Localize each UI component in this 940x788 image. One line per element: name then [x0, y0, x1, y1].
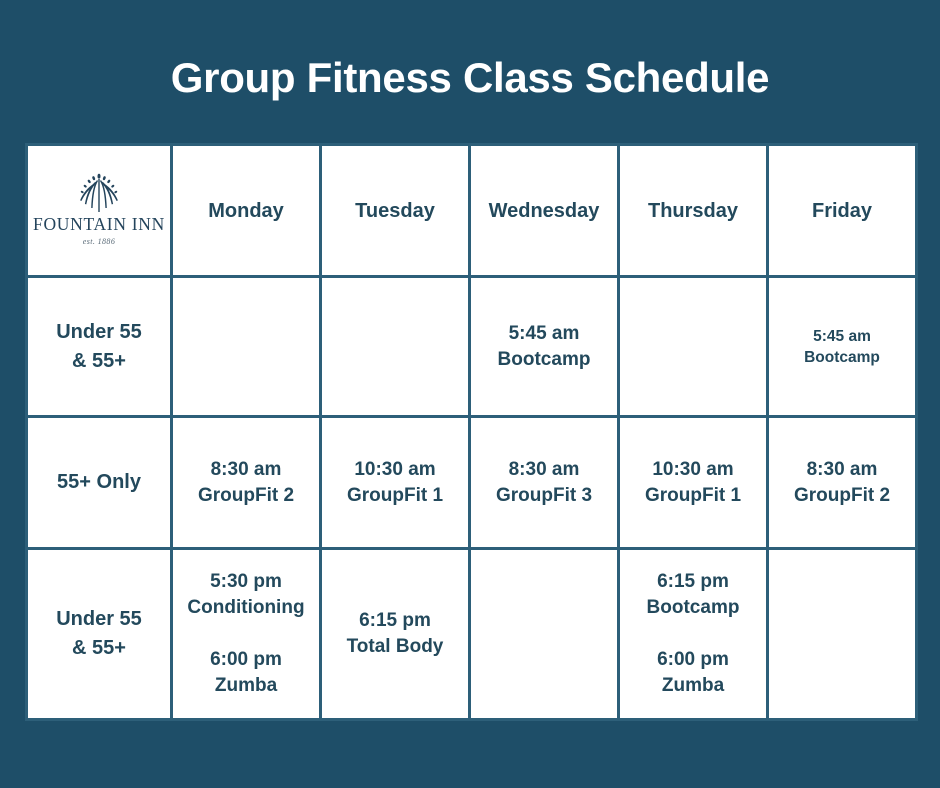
- class-entry-list: 8:30 amGroupFit 2: [177, 457, 315, 509]
- schedule-cell: 6:15 pmBootcamp6:00 pmZumba: [619, 549, 768, 720]
- group-label-line2: & 55+: [32, 634, 166, 663]
- class-time: 10:30 am: [645, 457, 741, 483]
- group-label-cell: Under 55& 55+: [27, 549, 172, 720]
- class-time: 5:30 pm: [187, 569, 304, 595]
- group-label: 55+ Only: [32, 468, 166, 497]
- brand-logo: FOUNTAIN INNest. 1886: [32, 148, 166, 273]
- group-label: Under 55& 55+: [32, 605, 166, 663]
- class-entry-list: 8:30 amGroupFit 2: [773, 457, 911, 509]
- schedule-cell-empty: [321, 277, 470, 417]
- class-time: 8:30 am: [794, 457, 890, 483]
- class-name: GroupFit 1: [347, 483, 443, 509]
- class-name: GroupFit 2: [198, 483, 294, 509]
- group-label-line1: 55+ Only: [32, 468, 166, 497]
- class-entry: 5:45 amBootcamp: [804, 326, 880, 368]
- class-entry: 10:30 amGroupFit 1: [645, 457, 741, 509]
- class-entry: 6:00 pmZumba: [657, 647, 729, 699]
- day-header-tuesday: Tuesday: [321, 145, 470, 277]
- class-time: 6:15 pm: [647, 569, 740, 595]
- page-title: Group Fitness Class Schedule: [0, 52, 940, 104]
- class-entry-list: 6:15 pmTotal Body: [326, 608, 464, 660]
- schedule-cell: 10:30 amGroupFit 1: [321, 417, 470, 549]
- day-header-wednesday: Wednesday: [470, 145, 619, 277]
- class-time: 10:30 am: [347, 457, 443, 483]
- day-header-label: Friday: [773, 199, 911, 223]
- schedule-cell: 8:30 amGroupFit 3: [470, 417, 619, 549]
- class-name: GroupFit 1: [645, 483, 741, 509]
- schedule-cell-empty: [172, 277, 321, 417]
- class-time: 5:45 am: [804, 326, 880, 347]
- class-time: 5:45 am: [498, 321, 591, 347]
- class-name: Bootcamp: [647, 595, 740, 621]
- table-header-row: FOUNTAIN INNest. 1886MondayTuesdayWednes…: [27, 145, 917, 277]
- day-header-friday: Friday: [768, 145, 917, 277]
- fountain-icon: [76, 173, 122, 214]
- class-name: Total Body: [347, 634, 444, 660]
- day-header-label: Monday: [177, 199, 315, 223]
- schedule-cell: 10:30 amGroupFit 1: [619, 417, 768, 549]
- schedule-cell: 6:15 pmTotal Body: [321, 549, 470, 720]
- class-entry: 6:00 pmZumba: [210, 647, 282, 699]
- schedule-cell: 8:30 amGroupFit 2: [768, 417, 917, 549]
- day-header-label: Thursday: [624, 199, 762, 223]
- class-name: Bootcamp: [498, 347, 591, 373]
- schedule-cell-empty: [768, 549, 917, 720]
- day-header-thursday: Thursday: [619, 145, 768, 277]
- class-name: Conditioning: [187, 595, 304, 621]
- class-entry: 6:15 pmBootcamp: [647, 569, 740, 621]
- class-name: GroupFit 3: [496, 483, 592, 509]
- class-entry-list: 8:30 amGroupFit 3: [475, 457, 613, 509]
- day-header-label: Tuesday: [326, 199, 464, 223]
- class-time: 6:15 pm: [347, 608, 444, 634]
- class-name: Bootcamp: [804, 347, 880, 368]
- logo-established: est. 1886: [83, 236, 116, 248]
- class-entry-list: 6:15 pmBootcamp6:00 pmZumba: [624, 569, 762, 699]
- group-label-cell: Under 55& 55+: [27, 277, 172, 417]
- schedule-cell: 5:30 pmConditioning6:00 pmZumba: [172, 549, 321, 720]
- class-entry: 10:30 amGroupFit 1: [347, 457, 443, 509]
- day-header-monday: Monday: [172, 145, 321, 277]
- class-entry-list: 5:45 amBootcamp: [773, 326, 911, 368]
- class-name: GroupFit 2: [794, 483, 890, 509]
- schedule-cell-empty: [619, 277, 768, 417]
- schedule-cell-empty: [470, 549, 619, 720]
- class-name: Zumba: [657, 673, 729, 699]
- class-entry: 5:30 pmConditioning: [187, 569, 304, 621]
- group-label-cell: 55+ Only: [27, 417, 172, 549]
- class-time: 6:00 pm: [657, 647, 729, 673]
- group-label-line2: & 55+: [32, 347, 166, 376]
- logo-cell: FOUNTAIN INNest. 1886: [27, 145, 172, 277]
- group-label-line1: Under 55: [32, 605, 166, 634]
- class-entry: 6:15 pmTotal Body: [347, 608, 444, 660]
- class-entry: 5:45 amBootcamp: [498, 321, 591, 373]
- class-time: 8:30 am: [496, 457, 592, 483]
- class-time: 6:00 pm: [210, 647, 282, 673]
- logo-wordmark: FOUNTAIN INN: [33, 214, 165, 234]
- schedule-page: Group Fitness Class Schedule FOUNTAIN IN…: [0, 0, 940, 788]
- class-name: Zumba: [210, 673, 282, 699]
- class-entry: 8:30 amGroupFit 2: [198, 457, 294, 509]
- schedule-cell: 8:30 amGroupFit 2: [172, 417, 321, 549]
- class-time: 8:30 am: [198, 457, 294, 483]
- group-label: Under 55& 55+: [32, 318, 166, 376]
- table-row: Under 55& 55+5:30 pmConditioning6:00 pmZ…: [27, 549, 917, 720]
- schedule-cell: 5:45 amBootcamp: [768, 277, 917, 417]
- schedule-cell: 5:45 amBootcamp: [470, 277, 619, 417]
- table-row: 55+ Only8:30 amGroupFit 210:30 amGroupFi…: [27, 417, 917, 549]
- class-entry: 8:30 amGroupFit 3: [496, 457, 592, 509]
- class-entry-list: 5:30 pmConditioning6:00 pmZumba: [177, 569, 315, 699]
- class-entry-list: 10:30 amGroupFit 1: [624, 457, 762, 509]
- table-row: Under 55& 55+5:45 amBootcamp5:45 amBootc…: [27, 277, 917, 417]
- class-entry-list: 10:30 amGroupFit 1: [326, 457, 464, 509]
- group-label-line1: Under 55: [32, 318, 166, 347]
- class-entry: 8:30 amGroupFit 2: [794, 457, 890, 509]
- day-header-label: Wednesday: [475, 199, 613, 223]
- class-schedule-table: FOUNTAIN INNest. 1886MondayTuesdayWednes…: [25, 143, 918, 721]
- class-entry-list: 5:45 amBootcamp: [475, 321, 613, 373]
